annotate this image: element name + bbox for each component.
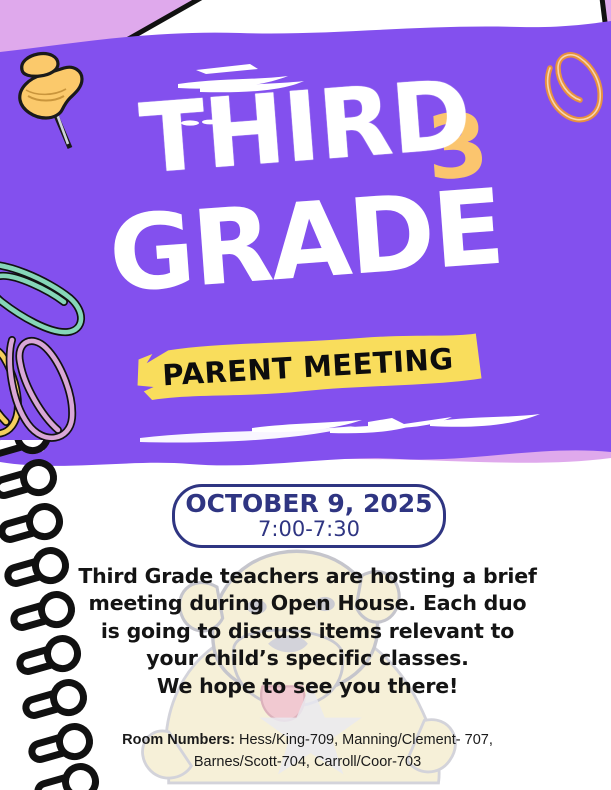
room-numbers: Room Numbers: Hess/King-709, Manning/Cle…	[70, 729, 545, 774]
room-numbers-line1: Hess/King-709, Manning/Clement- 707,	[235, 732, 493, 748]
date-pill: OCTOBER 9, 2025 7:00-7:30	[172, 484, 446, 548]
room-numbers-label: Room Numbers:	[122, 732, 235, 748]
room-numbers-line2: Barnes/Scott-704, Carroll/Coor-703	[194, 754, 421, 770]
title-grade: GRADE	[106, 183, 505, 301]
body-paragraph: Third Grade teachers are hosting a brief…	[76, 563, 539, 673]
date-text: OCTOBER 9, 2025	[185, 491, 432, 517]
pushpin-icon	[8, 48, 104, 166]
title-grade-wrap: GRADE	[0, 197, 611, 286]
flyer-canvas: THIRD 3 GRADE PARENT MEETING OCTOBER 9, …	[0, 0, 611, 790]
time-text: 7:00-7:30	[258, 518, 360, 541]
paperclip-orange-icon	[536, 38, 608, 148]
body-copy: Third Grade teachers are hosting a brief…	[76, 563, 539, 700]
spiral-binding	[0, 440, 102, 790]
body-closing: We hope to see you there!	[76, 673, 539, 700]
